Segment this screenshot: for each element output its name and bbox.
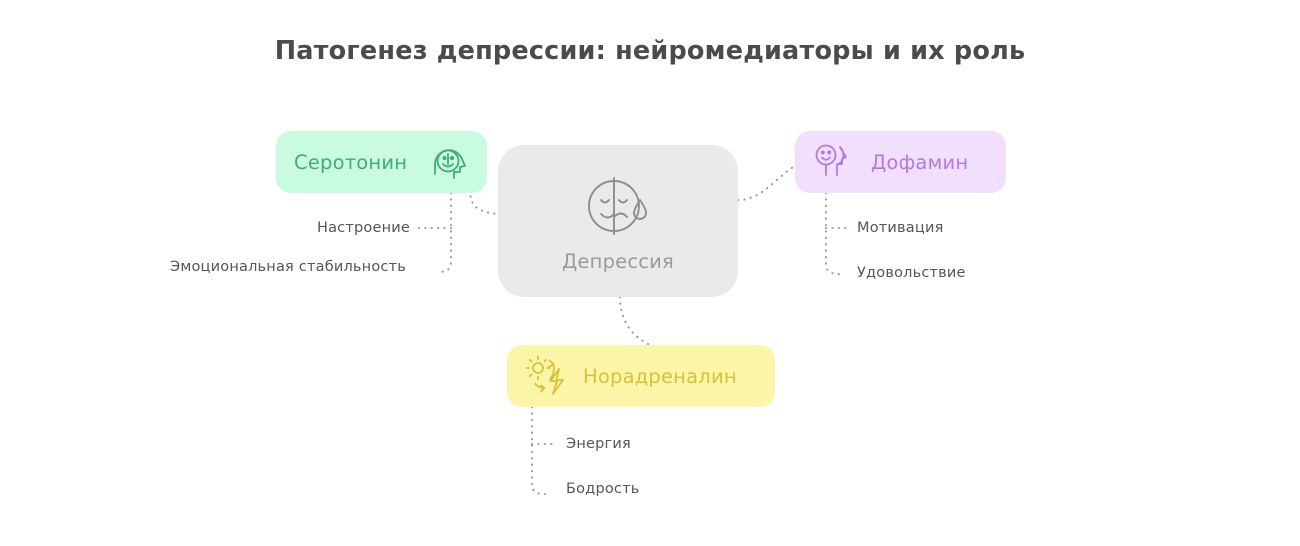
node-serotonin[interactable]: Серотонин	[276, 131, 487, 193]
node-central-label: Депрессия	[562, 250, 674, 273]
node-serotonin-label: Серотонин	[294, 151, 407, 174]
sub-label-noradrenaline-1: Бодрость	[566, 481, 639, 497]
connector-central-to-noradrenaline	[620, 297, 650, 345]
smiley-and-head-profile-icon	[813, 141, 857, 183]
connector-noradrenaline-trunk	[532, 407, 545, 494]
sub-label-serotonin-1: Эмоциональная стабильность	[110, 259, 406, 275]
node-dopamine[interactable]: Дофамин	[795, 131, 1006, 193]
page-title: Патогенез депрессии: нейромедиаторы и их…	[0, 36, 1300, 66]
sub-label-dopamine-0: Мотивация	[857, 220, 944, 236]
sub-label-serotonin-0: Настроение	[110, 220, 410, 236]
half-smile-half-sad-face-with-tear-icon	[581, 170, 655, 240]
node-central-depression[interactable]: Депрессия	[498, 145, 738, 297]
head-with-face-icon	[429, 141, 469, 183]
connector-central-to-dopamine	[738, 166, 795, 200]
connector-serotonin-trunk	[438, 193, 451, 272]
sub-label-dopamine-1: Удовольствие	[857, 265, 966, 281]
sun-cycle-lightning-icon	[525, 355, 571, 397]
node-noradrenaline[interactable]: Норадреналин	[507, 345, 775, 407]
sub-label-noradrenaline-0: Энергия	[566, 436, 631, 452]
connector-dopamine-trunk	[826, 193, 840, 274]
connector-serotonin-to-central	[470, 190, 498, 214]
diagram-canvas: Патогенез депрессии: нейромедиаторы и их…	[0, 0, 1300, 546]
node-noradrenaline-label: Норадреналин	[583, 365, 737, 388]
node-dopamine-label: Дофамин	[871, 151, 968, 174]
